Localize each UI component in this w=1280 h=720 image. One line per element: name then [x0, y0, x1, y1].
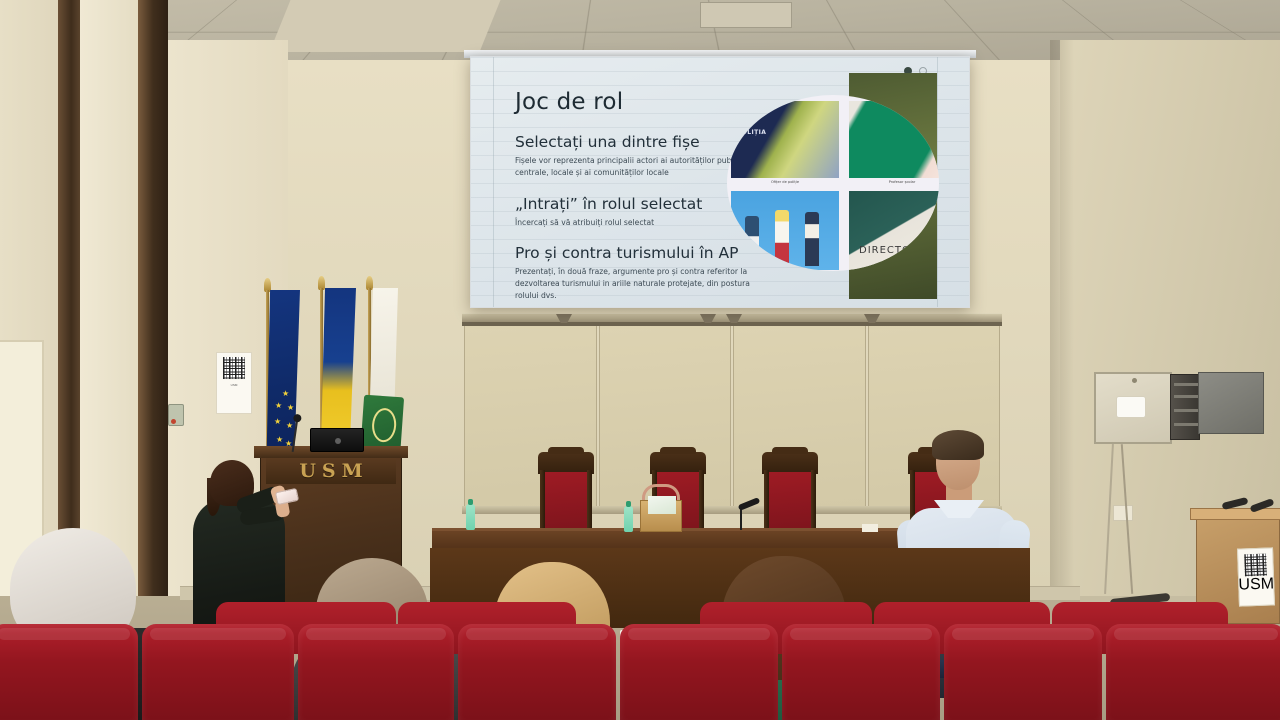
podium-branding: U S M — [266, 458, 396, 484]
director-overlay-text: DIRECTOR — [859, 245, 919, 256]
water-bottle[interactable] — [624, 506, 633, 532]
man-hair — [932, 430, 984, 460]
collage-cell-police: POLIȚIA Ofițer de poliție — [731, 101, 839, 185]
theater-seat[interactable] — [944, 624, 1102, 720]
director-photo: DIRECTOR — [849, 191, 939, 270]
ceiling-panel — [269, 0, 500, 52]
desk-qr-caption: USM — [1238, 575, 1274, 594]
water-bottle[interactable] — [466, 504, 475, 530]
qr-code-icon — [1244, 554, 1267, 577]
collage-oval-mask: POLIȚIA Ofițer de poliție Profesor școla… — [727, 95, 939, 271]
podium-letter: U — [299, 460, 316, 482]
qr-sign-caption: USM — [231, 383, 238, 387]
podium-letter: S — [322, 460, 336, 482]
desk-qr-sign: USM — [1237, 547, 1275, 606]
basket-contents — [648, 496, 676, 514]
collage-cell-journalist: Jurnalist — [731, 191, 839, 271]
police-photo: POLIȚIA — [731, 101, 839, 178]
panel-chair[interactable] — [762, 452, 818, 538]
wifi-access-point — [1116, 396, 1146, 418]
presentation-slide: Joc de rol Selectați una dintre fișe Fiș… — [471, 57, 969, 307]
collage-cell-teacher: Profesor școlar — [849, 101, 939, 185]
collage-cell-director: DIRECTOR Director — [849, 191, 939, 271]
police-overlay-text: POLIȚIA — [737, 129, 766, 136]
ceiling-vent — [700, 2, 792, 28]
network-rack — [1170, 374, 1200, 440]
cabinet-lock-icon — [1132, 378, 1137, 383]
collage-caption: Ofițer de poliție — [731, 180, 839, 184]
podium-letter: M — [342, 460, 363, 482]
alarm-panel[interactable] — [168, 404, 184, 426]
theater-seat[interactable] — [298, 624, 454, 720]
paper-sheet[interactable] — [862, 524, 878, 532]
laptop[interactable] — [310, 428, 364, 452]
laptop-logo-icon — [335, 438, 341, 444]
projection-screen: Joc de rol Selectați una dintre fișe Fiș… — [470, 56, 970, 308]
audience-seating — [0, 608, 1280, 720]
theater-seat[interactable] — [458, 624, 616, 720]
cabinet-door[interactable] — [1198, 372, 1264, 434]
table-microphone[interactable] — [740, 506, 742, 530]
collage-caption: Profesor școlar — [849, 180, 939, 184]
theater-seat[interactable] — [620, 624, 778, 720]
wall-switch[interactable] — [1113, 505, 1133, 521]
side-desk-top — [1190, 508, 1280, 520]
theater-seat[interactable] — [0, 624, 138, 720]
teacher-photo — [849, 101, 939, 178]
emblem-ring-icon — [371, 407, 397, 443]
theater-seat[interactable] — [1106, 624, 1280, 720]
journalist-illustration — [731, 191, 839, 270]
equipment-cabinet[interactable] — [1094, 372, 1172, 444]
wall-qr-sign: USM — [216, 352, 252, 414]
theater-seat[interactable] — [782, 624, 940, 720]
conference-hall-scene: USM USM — [0, 0, 1280, 720]
slide-image-collage: POLIȚIA Ofițer de poliție Profesor școla… — [727, 73, 963, 299]
theater-seat[interactable] — [142, 624, 294, 720]
qr-code-icon — [223, 357, 245, 379]
panel-chair[interactable] — [538, 452, 594, 538]
